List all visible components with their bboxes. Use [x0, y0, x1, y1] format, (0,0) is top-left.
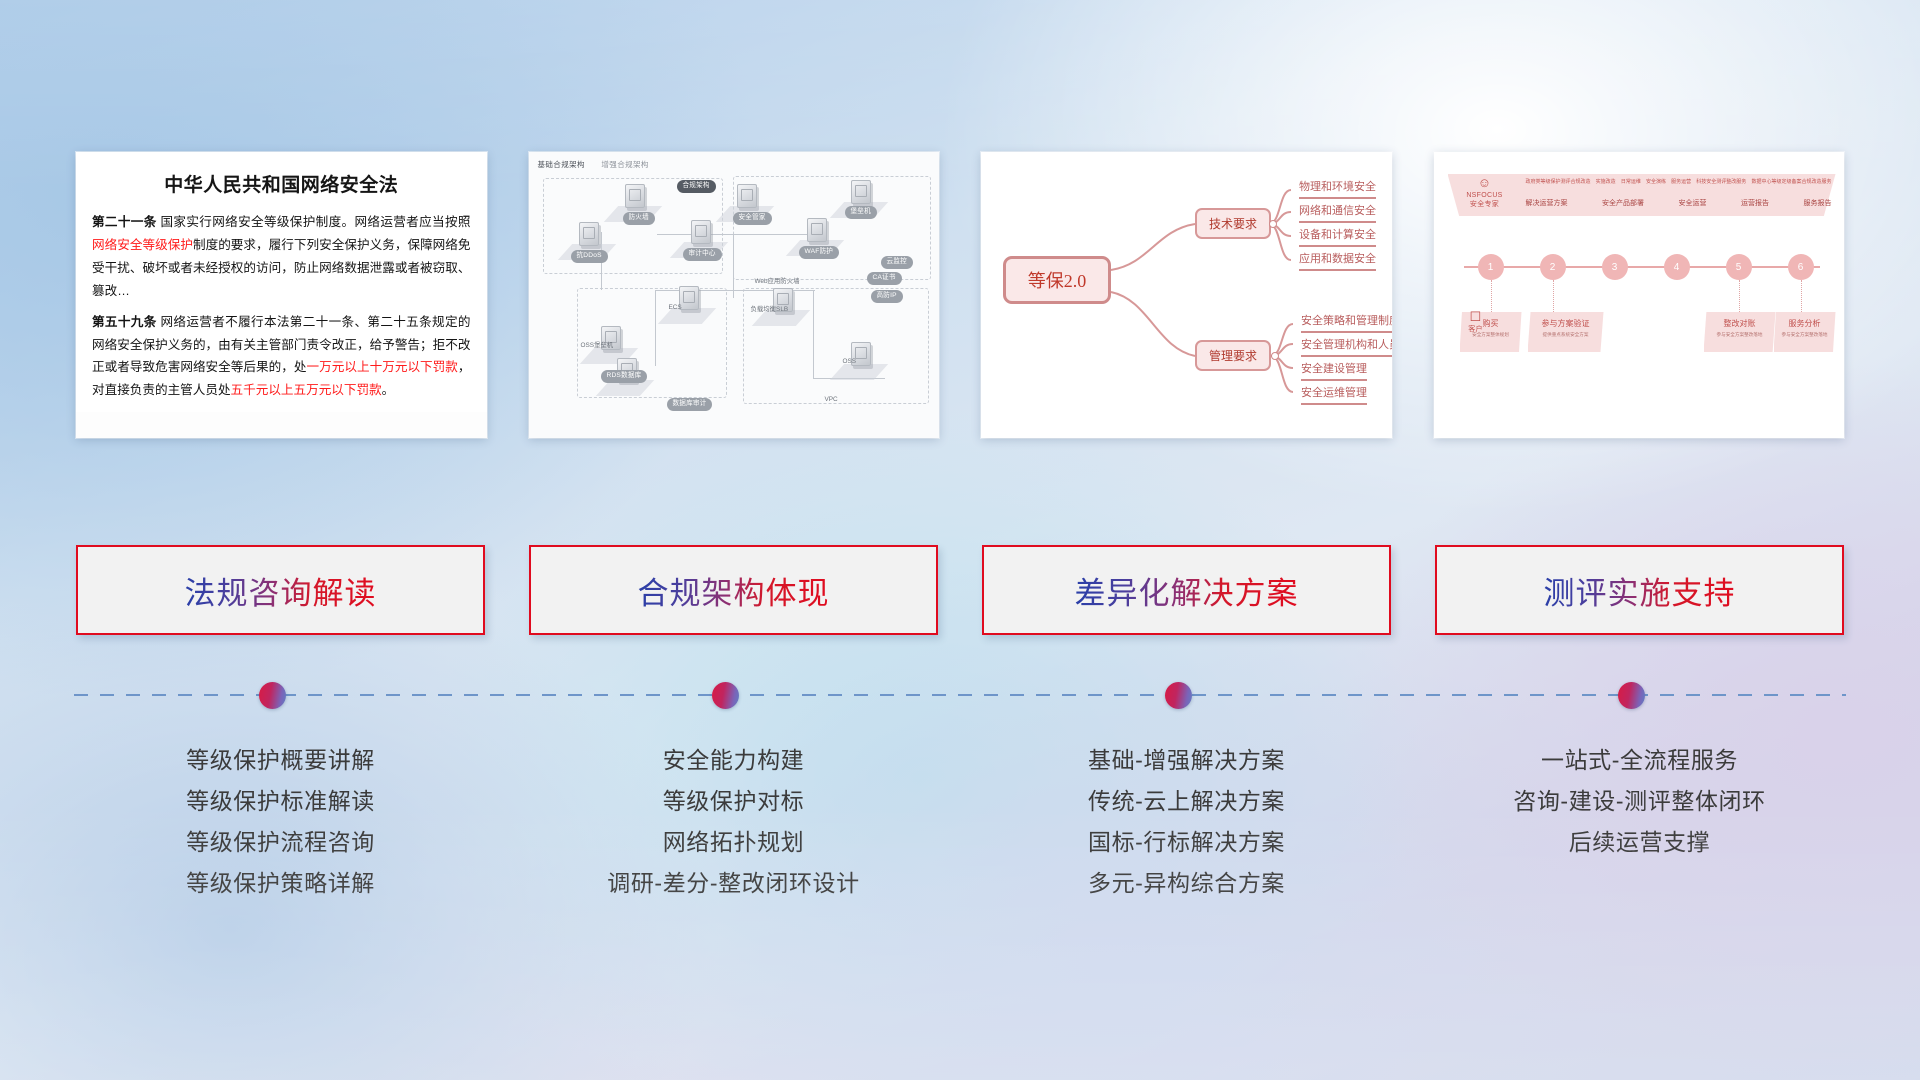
process-brand-name: NSFOCUS — [1466, 192, 1502, 199]
law-title: 中华人民共和国网络安全法 — [92, 170, 471, 197]
mindmap-leaf-t0: 物理和环境安全 — [1299, 178, 1376, 199]
list-item: 等级保护标准解读 — [76, 781, 485, 822]
process-tag-3: 安全演练 — [1646, 178, 1666, 185]
process-banner-subtags: 解决运营方案 安全产品部署 安全运营 运营报告 服务报告 — [1526, 198, 1832, 208]
list-item: 等级保护流程咨询 — [76, 822, 485, 863]
arch-label-5: WAF防护 — [799, 246, 840, 259]
process-tag-5: 科技安全测评整改服务 — [1696, 178, 1746, 185]
list-item: 等级保护策略详解 — [76, 863, 485, 904]
list-item: 调研-差分-整改闭环设计 — [529, 863, 938, 904]
detail-lists-row: 等级保护概要讲解 等级保护标准解读 等级保护流程咨询 等级保护策略详解 安全能力… — [76, 740, 1844, 960]
mindmap-collapse-dot-technical[interactable] — [1269, 220, 1277, 228]
detail-list-3: 一站式-全流程服务 咨询-建设-测评整体闭环 后续运营支撑 — [1435, 740, 1844, 960]
heading-box-differentiated-solutions[interactable]: 差异化解决方案 — [982, 545, 1391, 635]
architecture-diagram: 基础合规架构 增强合规架构 — [529, 152, 940, 438]
process-card-2: 整改对账 参与安全方案整改落地 — [1704, 312, 1776, 352]
process-tag-4: 服务运营 — [1671, 178, 1691, 185]
detail-list-2: 基础-增强解决方案 传统-云上解决方案 国标-行标解决方案 多元-异构综合方案 — [982, 740, 1391, 960]
expert-person-icon: ☺ — [1454, 176, 1516, 189]
process-brand-sub: 安全专家 — [1470, 201, 1499, 208]
law-document: 中华人民共和国网络安全法 第二十一条 国家实行网络安全等级保护制度。网络运营者应… — [76, 152, 487, 412]
process-card-1-desc: 提供重点系统安全方案 — [1543, 332, 1589, 337]
article-21-label: 第二十一条 — [92, 215, 157, 229]
list-item: 基础-增强解决方案 — [982, 740, 1391, 781]
mindmap-leaf-m3: 安全运维管理 — [1301, 384, 1367, 405]
list-item: 网络拓扑规划 — [529, 822, 938, 863]
process-tag-1: 实施改造 — [1596, 178, 1616, 185]
article-59-text-c: 。 — [382, 383, 395, 397]
arch-node-firewall — [625, 184, 645, 208]
process-rail — [1464, 266, 1820, 268]
process-card-1-title: 参与方案验证 — [1532, 318, 1600, 329]
process-step-6[interactable]: 6 — [1788, 254, 1814, 280]
arch-label-2: 堡垒机 — [845, 206, 877, 219]
process-banner-tags: 政府类等级保护测评合规改造 实施改造 日常运维 安全演练 服务运营 科技安全测评… — [1526, 178, 1832, 185]
arch-label-8: CA证书 — [867, 272, 902, 285]
law-article-21: 第二十一条 国家实行网络安全等级保护制度。网络运营者应当按照网络安全等级保护制度… — [92, 211, 471, 303]
detail-list-1: 安全能力构建 等级保护对标 网络拓扑规划 调研-差分-整改闭环设计 — [529, 740, 938, 960]
arch-link-1 — [657, 234, 807, 235]
list-item: 传统-云上解决方案 — [982, 781, 1391, 822]
list-item: 国标-行标解决方案 — [982, 822, 1391, 863]
arch-node-audit — [691, 220, 711, 244]
detail-list-0: 等级保护概要讲解 等级保护标准解读 等级保护流程咨询 等级保护策略详解 — [76, 740, 485, 960]
process-subtag-3: 运营报告 — [1741, 198, 1769, 208]
mindmap-leaf-m1: 安全管理机构和人员 — [1301, 336, 1392, 357]
process-step-1[interactable]: 1 — [1478, 254, 1504, 280]
arch-label-11: 负载均衡SLB — [751, 304, 789, 313]
process-card-3-desc: 参与安全方案整改落地 — [1782, 332, 1828, 337]
arch-link-2 — [733, 234, 734, 298]
list-item: 后续运营支撑 — [1435, 822, 1844, 863]
heading-boxes-row: 法规咨询解读 合规架构体现 差异化解决方案 测评实施支持 — [76, 545, 1844, 635]
process-drop-5 — [1739, 280, 1740, 312]
arch-label-6: 云监控 — [881, 256, 913, 269]
heading-box-regulation-consulting[interactable]: 法规咨询解读 — [76, 545, 485, 635]
process-step-5[interactable]: 5 — [1726, 254, 1752, 280]
article-59-label: 第五十九条 — [92, 315, 157, 329]
process-client: ☐ 客户 — [1448, 310, 1504, 334]
timeline-dot-3[interactable] — [1618, 682, 1645, 709]
arch-node-waf — [807, 218, 827, 242]
list-item: 多元-异构综合方案 — [982, 863, 1391, 904]
preview-cards-row: 中华人民共和国网络安全法 第二十一条 国家实行网络安全等级保护制度。网络运营者应… — [76, 152, 1844, 438]
arch-label-13: RDS数据库 — [601, 370, 648, 383]
list-item: 安全能力构建 — [529, 740, 938, 781]
arch-link-5 — [813, 290, 814, 378]
process-step-4[interactable]: 4 — [1664, 254, 1690, 280]
arch-node-security-manager — [737, 184, 757, 208]
arch-label-14: OSS — [843, 358, 857, 365]
process-step-2[interactable]: 2 — [1540, 254, 1566, 280]
mindmap-leaf-m2: 安全建设管理 — [1301, 360, 1367, 381]
arch-label-7: Web应用防火墙 — [755, 276, 800, 285]
process-subtag-4: 服务报告 — [1804, 198, 1832, 208]
mindmap: 等保2.0 技术要求 物理和环境安全 网络和通信安全 设备和计算安全 应用和数据… — [981, 152, 1392, 438]
heading-label-1: 合规架构体现 — [638, 568, 830, 613]
article-21-text-a: 国家实行网络安全等级保护制度。网络运营者应当按照 — [157, 215, 471, 229]
card-service-process[interactable]: ☺ NSFOCUS 安全专家 政府类等级保护测评合规改造 实施改造 日常运维 安… — [1434, 152, 1845, 438]
process-brand: ☺ NSFOCUS 安全专家 — [1454, 176, 1516, 210]
arch-label-0: 防火墙 — [623, 212, 655, 225]
arch-label-9: 高防IP — [871, 290, 903, 303]
arch-tab-basic[interactable]: 基础合规架构 — [538, 160, 585, 169]
process-card-2-desc: 参与安全方案整改落地 — [1717, 332, 1763, 337]
mindmap-leaf-m0: 安全策略和管理制度 — [1301, 312, 1392, 333]
timeline-dot-1[interactable] — [712, 682, 739, 709]
process-card-3: 服务分析 参与安全方案整改落地 — [1774, 312, 1836, 352]
arch-node-bastion — [851, 180, 871, 204]
process-tag-2: 日常运维 — [1621, 178, 1641, 185]
mindmap-root: 等保2.0 — [1003, 256, 1111, 304]
process-tag-6: 数据中心等级定级备案合规改造服务 — [1751, 178, 1831, 185]
mindmap-branch-technical: 技术要求 — [1195, 208, 1271, 239]
mindmap-leaf-t1: 网络和通信安全 — [1299, 202, 1376, 223]
arch-label-1: 安全管家 — [733, 212, 772, 225]
timeline-dot-0[interactable] — [259, 682, 286, 709]
list-item: 等级保护概要讲解 — [76, 740, 485, 781]
arch-label-4: 审计中心 — [683, 248, 722, 261]
arch-label-10: ECS — [669, 304, 682, 311]
arch-label-15: VPC — [825, 396, 838, 403]
arch-link-4 — [655, 290, 656, 366]
process-card-3-title: 服务分析 — [1778, 318, 1832, 329]
arch-label-3: 抗DDoS — [571, 250, 608, 263]
process-card-1: 参与方案验证 提供重点系统安全方案 — [1528, 312, 1604, 352]
arch-label-12: OSS堡垒机 — [581, 340, 614, 349]
architecture-canvas: 合规架构 防火墙 安全管家 堡垒机 抗DDoS 审计中心 WAF防护 云监控 W… — [537, 172, 932, 430]
process-tag-0: 政府类等级保护测评合规改造 — [1526, 178, 1591, 185]
process-drop-1 — [1491, 280, 1492, 312]
process-step-3[interactable]: 3 — [1602, 254, 1628, 280]
list-item: 等级保护对标 — [529, 781, 938, 822]
list-item: 一站式-全流程服务 — [1435, 740, 1844, 781]
architecture-tabs: 基础合规架构 增强合规架构 — [538, 159, 663, 170]
article-21-highlight: 网络安全等级保护 — [92, 238, 193, 252]
heading-box-compliance-architecture[interactable]: 合规架构体现 — [529, 545, 938, 635]
arch-tab-enhanced[interactable]: 增强合规架构 — [601, 160, 648, 169]
article-59-highlight-a: 一万元以上十万元以下罚款 — [307, 360, 458, 374]
process-card-2-title: 整改对账 — [1708, 318, 1772, 329]
article-59-highlight-b: 五千元以上五万元以下罚款 — [231, 383, 382, 397]
law-article-59: 第五十九条 网络运营者不履行本法第二十一条、第二十五条规定的网络安全保护义务的，… — [92, 311, 471, 403]
process-client-label: 客户 — [1468, 326, 1483, 333]
process-graphic: ☺ NSFOCUS 安全专家 政府类等级保护测评合规改造 实施改造 日常运维 安… — [1434, 152, 1845, 438]
card-compliance-architecture[interactable]: 基础合规架构 增强合规架构 — [529, 152, 940, 438]
process-drop-6 — [1801, 280, 1802, 312]
heading-label-3: 测评实施支持 — [1544, 568, 1736, 613]
process-subtag-0: 解决运营方案 — [1526, 198, 1568, 208]
process-subtag-2: 安全运营 — [1679, 198, 1707, 208]
heading-label-2: 差异化解决方案 — [1075, 568, 1299, 613]
mindmap-collapse-dot-management[interactable] — [1271, 352, 1279, 360]
slide-canvas: 中华人民共和国网络安全法 第二十一条 国家实行网络安全等级保护制度。网络运营者应… — [0, 0, 1920, 1080]
mindmap-leaf-t3: 应用和数据安全 — [1299, 250, 1376, 271]
heading-label-0: 法规咨询解读 — [185, 568, 377, 613]
process-subtag-1: 安全产品部署 — [1602, 198, 1644, 208]
card-cybersecurity-law[interactable]: 中华人民共和国网络安全法 第二十一条 国家实行网络安全等级保护制度。网络运营者应… — [76, 152, 487, 438]
timeline-dashed-line — [74, 694, 1846, 696]
arch-node-antiddos — [579, 222, 599, 246]
mindmap-leaf-t2: 设备和计算安全 — [1299, 226, 1376, 247]
card-mindmap-dengbao[interactable]: 等保2.0 技术要求 物理和环境安全 网络和通信安全 设备和计算安全 应用和数据… — [981, 152, 1392, 438]
mindmap-branch-management: 管理要求 — [1195, 340, 1271, 371]
heading-box-assessment-support[interactable]: 测评实施支持 — [1435, 545, 1844, 635]
arch-title-chip: 合规架构 — [677, 180, 716, 193]
client-checklist-icon: ☐ — [1448, 310, 1504, 323]
list-item: 咨询-建设-测评整体闭环 — [1435, 781, 1844, 822]
process-drop-2 — [1553, 280, 1554, 312]
arch-label-16: 数据库审计 — [667, 398, 713, 411]
timeline-dot-2[interactable] — [1165, 682, 1192, 709]
